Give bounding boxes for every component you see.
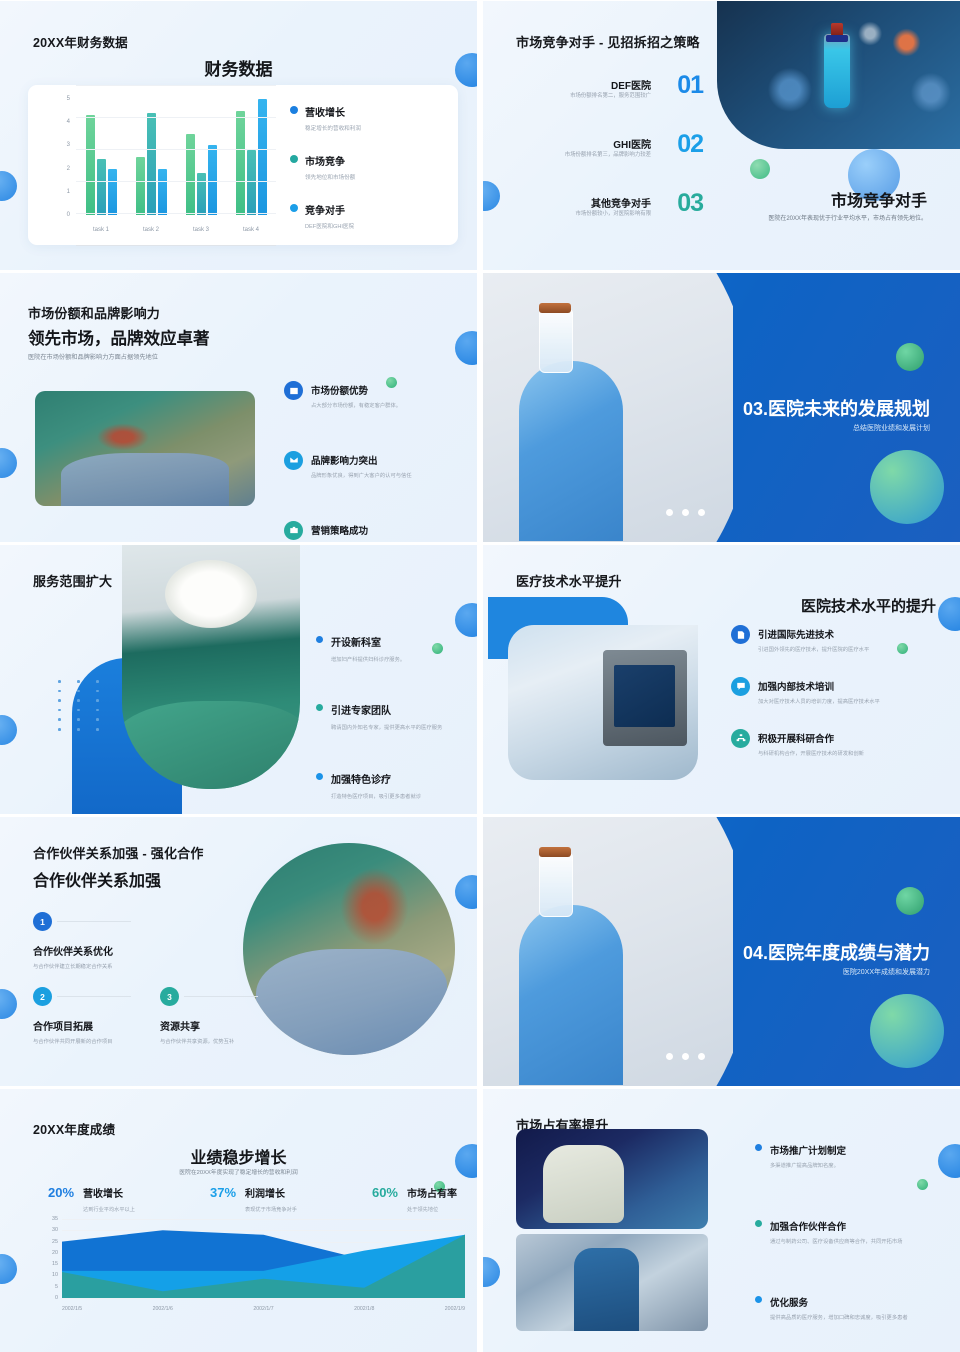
- dot: [698, 1053, 705, 1060]
- dot: [96, 680, 99, 683]
- mail-icon: [284, 451, 303, 470]
- service-title: 加强特色诊疗: [331, 775, 391, 786]
- page-title: 业绩稳步增长: [0, 1144, 477, 1168]
- market-desc: 多渠道推广提高品牌知名度。: [770, 1163, 846, 1171]
- step-number: 3: [160, 987, 179, 1006]
- kpi-value: 60%: [372, 1185, 398, 1200]
- kpi-desc: 达到行业平均水平以上: [83, 1206, 135, 1213]
- step-number: 2: [33, 987, 52, 1006]
- y-axis-tick: 30: [36, 1227, 58, 1233]
- section-subtitle: 医院20XX年成绩和发展潜力: [843, 967, 930, 977]
- list-item: 引进国际先进技术 引进国外领先的医疗技术，提升医院的医疗水平: [731, 625, 941, 655]
- slide-section-03: 03.医院未来的发展规划 总结医院业绩和发展计划: [483, 273, 960, 542]
- tech-desc: 加大对医疗技术人员的培训力度，提高医疗技术水平: [758, 699, 880, 707]
- service-desc: 增加妇产科提供妇科诊疗服务。: [331, 656, 405, 664]
- dot: [58, 718, 61, 721]
- decor-blue-circle-left: [0, 171, 17, 201]
- market-title: 优化服务: [770, 1298, 808, 1309]
- grid-line: [76, 85, 276, 86]
- dot: [58, 690, 61, 693]
- section-title: 04.医院年度成绩与潜力: [743, 939, 930, 965]
- bullet-icon: [755, 1296, 762, 1303]
- service-desc: 聘请国内外知名专家，提供更高水平的医疗服务: [331, 724, 442, 732]
- vial-icon: [824, 34, 850, 108]
- decor-blue-circle-left: [483, 1257, 500, 1287]
- bar: [136, 157, 145, 215]
- dot: [666, 509, 673, 516]
- market-desc: 提供高品质的医疗服务，增加口碑和忠诚度，吸引更多患者: [770, 1315, 908, 1323]
- slide-eyebrow: 市场竞争对手 - 见招拆招之策略: [516, 32, 700, 51]
- dot: [58, 699, 61, 702]
- service-desc: 打造特色医疗项目，吸引更多患者就诊: [331, 793, 421, 801]
- list-item: 品牌影响力突出 品牌形象优良，得到广大客户的认可与信任: [284, 451, 464, 481]
- tech-title: 积极开展科研合作: [758, 734, 834, 745]
- list-item: GHI医院 市场份额排名第三，品牌影响力较差 02: [523, 132, 703, 191]
- chart-legend: 营收增长 稳定增长的营收和利润 市场竞争 领先地位和市场份额 竞争对手 DE: [286, 85, 458, 245]
- kpi-value: 37%: [210, 1185, 236, 1200]
- bar: [97, 159, 106, 215]
- competitor-name: DEF医院: [611, 77, 651, 92]
- page-subtitle: 医院在20XX年度实现了稳定增长的营收和利润: [0, 1167, 477, 1176]
- slide-medical-tech: 医疗技术水平提升 医院技术水平的提升 引进国际先进技术 引进国外领先的医疗技术，…: [483, 545, 960, 814]
- y-axis-tick: 2: [28, 166, 70, 172]
- competitor-number: 02: [677, 130, 703, 159]
- x-axis-tick: task 1: [93, 227, 109, 233]
- step-title: 资源共享: [160, 1018, 310, 1033]
- bar-chart: task 1task 2task 3task 4 543210: [28, 85, 286, 245]
- competitor-list: DEF医院 市场份额排名第二，服务范围较广 01 GHI医院 市场份额排名第三，…: [523, 73, 703, 250]
- bar: [197, 173, 206, 215]
- gloved-hand-icon: [519, 361, 623, 541]
- slide-annual-results: 20XX年度成绩 业绩稳步增长 医院在20XX年度实现了稳定增长的营收和利润 2…: [0, 1089, 477, 1352]
- decor-blue-circle-left: [0, 715, 17, 745]
- bar: [186, 134, 195, 215]
- competitor-desc: 市场份额排名第三，品牌影响力较差: [565, 150, 651, 158]
- list-item: 市场份额优势 占大部分市场份额，有稳定客户群体。: [284, 381, 464, 411]
- legend-dot-icon: [290, 204, 298, 212]
- surgery-photo: [35, 391, 255, 506]
- x-axis-tick: 2002/1/9: [445, 1306, 465, 1312]
- briefcase-icon: [284, 521, 303, 540]
- slide-market-share: 市场份额和品牌影响力 领先市场，品牌效应卓著 医院在市场份额和品牌影响力方面占据…: [0, 273, 477, 542]
- y-axis-tick: 5: [36, 1284, 58, 1290]
- competitor-desc: 市场份额排名第二，服务范围较广: [570, 91, 651, 99]
- grid-line: [76, 245, 276, 246]
- section-heading: 市场竞争对手: [831, 187, 927, 211]
- bar: [236, 111, 245, 215]
- image-icon: [284, 381, 303, 400]
- grid-line: [76, 181, 276, 182]
- doctor-photo: [483, 817, 733, 1086]
- pagination-dots: [666, 1053, 705, 1060]
- y-axis-tick: 3: [28, 142, 70, 148]
- list-item: 营销策略成功 创新营销策略取得成功，提升品牌知名度: [284, 521, 464, 542]
- slide-eyebrow: 市场份额和品牌影响力: [28, 303, 160, 322]
- decor-gradient-circle: [870, 994, 944, 1068]
- tech-desc: 与科研机构合作，开展医疗技术的研发和创新: [758, 751, 864, 759]
- step-number: 1: [33, 912, 52, 931]
- slide-section-04: 04.医院年度成绩与潜力 医院20XX年成绩和发展潜力: [483, 817, 960, 1086]
- dot: [682, 509, 689, 516]
- y-axis-tick: 15: [36, 1261, 58, 1267]
- decor-blue-circle: [455, 331, 477, 365]
- legend-dot-icon: [290, 155, 298, 163]
- dot: [58, 709, 61, 712]
- list-item: 其他竞争对手 市场份额较小，对医院影响有限 03: [523, 191, 703, 250]
- y-axis-tick: 4: [28, 119, 70, 125]
- bar: [86, 115, 95, 215]
- kpi-desc: 处于领先地位: [407, 1206, 457, 1213]
- x-axis-tick: task 4: [243, 227, 259, 233]
- kpi-title: 营收增长: [83, 1189, 123, 1200]
- x-axis-tick: 2002/1/7: [253, 1306, 273, 1312]
- feature-desc: 品牌形象优良，得到广大客户的认可与信任: [311, 473, 412, 481]
- bullet-icon: [316, 636, 323, 643]
- tech-title: 引进国际先进技术: [758, 630, 834, 641]
- section-subtitle: 总结医院业绩和发展计划: [853, 423, 930, 433]
- gloved-hand-icon: [519, 905, 623, 1085]
- feature-desc: 占大部分市场份额，有稳定客户群体。: [311, 403, 401, 411]
- slide-financial-data: 20XX年财务数据 财务数据 task 1task 2task 3task 4 …: [0, 1, 477, 270]
- bullet-icon: [316, 704, 323, 711]
- bar: [147, 113, 156, 215]
- bar: [108, 169, 117, 215]
- grid-line: [76, 213, 276, 214]
- doctor-photo: [483, 273, 733, 542]
- legend-label: 营收增长: [305, 108, 345, 119]
- legend-desc: DEF医院和GHI医院: [305, 222, 354, 230]
- x-axis-tick: task 2: [143, 227, 159, 233]
- list-item: 开设新科室 增加妇产科提供妇科诊疗服务。: [316, 633, 466, 664]
- tech-title: 加强内部技术培训: [758, 682, 834, 693]
- legend-desc: 领先地位和市场份额: [305, 173, 355, 181]
- market-title: 加强合作伙伴合作: [770, 1222, 846, 1233]
- vial-photo: [717, 1, 960, 149]
- decor-green-circle: [750, 159, 770, 179]
- list-item: 引进专家团队 聘请国内外知名专家，提供更高水平的医疗服务: [316, 701, 466, 732]
- dot: [58, 680, 61, 683]
- competitor-desc: 市场份额较小，对医院影响有限: [576, 209, 651, 217]
- network-icon: [731, 729, 750, 748]
- dot: [96, 699, 99, 702]
- dot: [77, 709, 80, 712]
- kpi-item: 60% 市场占有率 处于领先地位: [372, 1184, 457, 1213]
- y-axis-tick: 0: [28, 212, 70, 218]
- medical-team-photo: [516, 1234, 708, 1331]
- legend-dot-icon: [290, 106, 298, 114]
- dot: [96, 728, 99, 731]
- y-axis-tick: 1: [28, 189, 70, 195]
- y-axis-tick: 5: [28, 96, 70, 102]
- kpi-item: 20% 营收增长 达到行业平均水平以上: [48, 1184, 135, 1213]
- tech-list: 引进国际先进技术 引进国外领先的医疗技术，提升医院的医疗水平 加强内部技术培训 …: [731, 625, 941, 759]
- bullet-icon: [755, 1144, 762, 1151]
- decor-blue-circle: [455, 603, 477, 637]
- grid-line: [62, 1298, 465, 1299]
- doc-icon: [731, 625, 750, 644]
- bullet-icon: [755, 1220, 762, 1227]
- dot: [77, 718, 80, 721]
- y-axis-tick: 25: [36, 1239, 58, 1245]
- feature-title: 营销策略成功: [311, 526, 368, 537]
- competitor-name: 其他竞争对手: [591, 195, 651, 210]
- dot: [682, 1053, 689, 1060]
- kpi-item: 37% 利润增长 表现优于市场竞争对手: [210, 1184, 297, 1213]
- slide-market-rate: 市场占有率提升 市场推广计划制定 多渠道推广提高品牌知名度。 加强合作伙伴合作 …: [483, 1089, 960, 1352]
- list-item: 市场推广计划制定 多渠道推广提高品牌知名度。: [755, 1141, 945, 1171]
- decor-blue-circle-left: [483, 181, 500, 211]
- bar: [247, 150, 256, 215]
- decor-green-circle: [896, 887, 924, 915]
- dot: [77, 728, 80, 731]
- kpi-value: 20%: [48, 1185, 74, 1200]
- dot: [698, 509, 705, 516]
- decor-blue-circle-left: [0, 448, 17, 478]
- slide-eyebrow: 合作伙伴关系加强 - 强化合作: [33, 843, 204, 862]
- doctor-mask-photo: [516, 1129, 708, 1229]
- y-axis-tick: 10: [36, 1272, 58, 1278]
- list-item: 加强合作伙伴合作 通过与制药公司、医疗设备供应商等合作，共同开拓市场: [755, 1217, 945, 1247]
- step-item: 3 资源共享 与合作伙伴共享资源，优势互补: [160, 987, 310, 1045]
- area-chart-plot: [62, 1219, 465, 1298]
- step-rule: [57, 996, 131, 997]
- dot: [58, 728, 61, 731]
- legend-item: 营收增长 稳定增长的营收和利润: [290, 103, 450, 132]
- chat-icon: [731, 677, 750, 696]
- list-item: 优化服务 提供高品质的医疗服务，增加口碑和忠诚度，吸引更多患者: [755, 1293, 945, 1323]
- service-title: 引进专家团队: [331, 706, 391, 717]
- chart-card: task 1task 2task 3task 4 543210 营收增长 稳定增…: [28, 85, 458, 245]
- dot: [96, 690, 99, 693]
- dot: [96, 709, 99, 712]
- y-axis-tick: 20: [36, 1250, 58, 1256]
- slide-competitors: 市场竞争对手 - 见招拆招之策略 DEF医院 市场份额排名第二，服务范围较广 0…: [483, 1, 960, 270]
- legend-item: 竞争对手 DEF医院和GHI医院: [290, 201, 450, 230]
- area-chart: 35302520151050 2002/1/52002/1/62002/1/72…: [36, 1219, 465, 1314]
- x-axis-tick: 2002/1/6: [153, 1306, 173, 1312]
- step-desc: 与合作伙伴共享资源，优势互补: [160, 1037, 310, 1045]
- slide-partners: 合作伙伴关系加强 - 强化合作 合作伙伴关系加强 1 合作伙伴关系优化 与合作伙…: [0, 817, 477, 1086]
- legend-label: 市场竞争: [305, 157, 345, 168]
- x-axis-tick: 2002/1/8: [354, 1306, 374, 1312]
- dot: [96, 718, 99, 721]
- slide-deck: 20XX年财务数据 财务数据 task 1task 2task 3task 4 …: [0, 0, 960, 1352]
- market-desc: 通过与制药公司、医疗设备供应商等合作，共同开拓市场: [770, 1239, 902, 1247]
- feature-title: 品牌影响力突出: [311, 456, 378, 467]
- service-list: 开设新科室 增加妇产科提供妇科诊疗服务。 引进专家团队 聘请国内外知名专家，提供…: [316, 633, 466, 801]
- feature-title: 市场份额优势: [311, 386, 368, 397]
- decor-blue-circle-left: [0, 989, 17, 1019]
- dot: [77, 690, 80, 693]
- tech-desc: 引进国外领先的医疗技术，提升医院的医疗水平: [758, 647, 869, 655]
- grid-line: [76, 117, 276, 118]
- step-rule: [184, 996, 258, 997]
- dot: [77, 699, 80, 702]
- legend-desc: 稳定增长的营收和利润: [305, 124, 361, 132]
- section-title: 03.医院未来的发展规划: [743, 395, 930, 421]
- legend-label: 竞争对手: [305, 206, 345, 217]
- page-title: 医院技术水平的提升: [801, 595, 936, 616]
- step-item: 1 合作伙伴关系优化 与合作伙伴建立长期稳定合作关系: [33, 912, 183, 970]
- market-title: 市场推广计划制定: [770, 1146, 846, 1157]
- step-desc: 与合作伙伴建立长期稳定合作关系: [33, 962, 183, 970]
- legend-item: 市场竞争 领先地位和市场份额: [290, 152, 450, 181]
- page-subtitle: 医院在市场份额和品牌影响力方面占据领先地位: [28, 352, 158, 361]
- slide-eyebrow: 医疗技术水平提升: [516, 571, 622, 590]
- dot: [77, 680, 80, 683]
- slide-eyebrow: 20XX年财务数据: [33, 32, 128, 51]
- decor-gradient-circle: [870, 450, 944, 524]
- y-axis-tick: 0: [36, 1295, 58, 1301]
- decor-green-circle: [896, 343, 924, 371]
- dot: [666, 1053, 673, 1060]
- feature-list: 市场份额优势 占大部分市场份额，有稳定客户群体。 品牌影响力突出 品牌形象优良，…: [284, 381, 464, 542]
- x-axis-tick: task 3: [193, 227, 209, 233]
- service-title: 开设新科室: [331, 638, 381, 649]
- competitor-number: 03: [677, 189, 703, 218]
- list-item: 加强特色诊疗 打造特色医疗项目，吸引更多患者就诊: [316, 770, 466, 801]
- page-title: 合作伙伴关系加强: [33, 867, 161, 891]
- bar: [158, 169, 167, 215]
- decor-dot-grid: [58, 680, 106, 731]
- competitor-name: GHI医院: [613, 136, 651, 151]
- market-list: 市场推广计划制定 多渠道推广提高品牌知名度。 加强合作伙伴合作 通过与制药公司、…: [755, 1141, 945, 1323]
- list-item: 积极开展科研合作 与科研机构合作，开展医疗技术的研发和创新: [731, 729, 941, 759]
- slide-service-scope: 服务范围扩大 开设新科室 增加妇产科提供妇科诊疗服务。 引进专家团队 聘请国内外…: [0, 545, 477, 814]
- list-item: 加强内部技术培训 加大对医疗技术人员的培训力度，提高医疗技术水平: [731, 677, 941, 707]
- page-title: 财务数据: [0, 55, 477, 80]
- kpi-title: 利润增长: [245, 1189, 285, 1200]
- grid-line: [76, 149, 276, 150]
- decor-blue-circle-left: [0, 1254, 17, 1284]
- step-title: 合作伙伴关系优化: [33, 943, 183, 958]
- slide-eyebrow: 服务范围扩大: [33, 571, 112, 590]
- slide-eyebrow: 20XX年度成绩: [33, 1119, 115, 1138]
- x-axis-tick: 2002/1/5: [62, 1306, 82, 1312]
- section-subtext: 医院在20XX年表现优于行业平均水平，市场占有领先地位。: [768, 213, 927, 222]
- kpi-title: 市场占有率: [407, 1189, 457, 1200]
- kpi-desc: 表现优于市场竞争对手: [245, 1206, 297, 1213]
- step-rule: [57, 921, 131, 922]
- hospital-room-photo: [508, 625, 698, 780]
- kpi-row: 20% 营收增长 达到行业平均水平以上 37% 利润增长 表现优于市场竞争对手 …: [48, 1184, 457, 1213]
- competitor-number: 01: [677, 71, 703, 100]
- decor-blue-circle: [938, 597, 960, 631]
- operating-room-photo: [122, 545, 300, 789]
- bullet-icon: [316, 773, 323, 780]
- page-title: 领先市场，品牌效应卓著: [28, 325, 210, 349]
- pagination-dots: [666, 509, 705, 516]
- y-axis-tick: 35: [36, 1216, 58, 1222]
- list-item: DEF医院 市场份额排名第二，服务范围较广 01: [523, 73, 703, 132]
